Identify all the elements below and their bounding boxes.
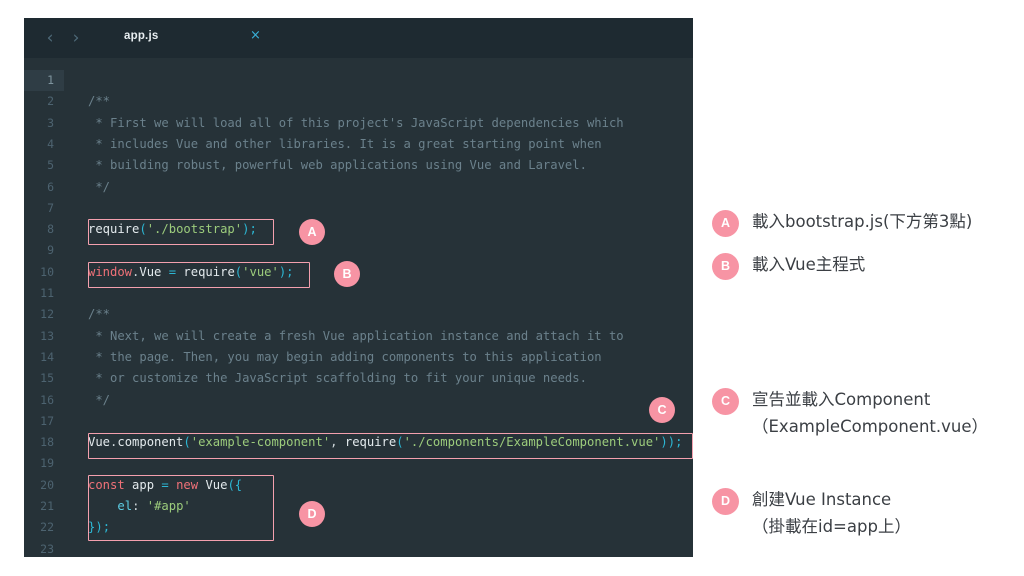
code-line[interactable]: Vue.component('example-component', requi…: [64, 432, 682, 453]
annotation-text-a: 載入bootstrap.js(下方第3點): [752, 208, 1024, 235]
chevron-left-icon[interactable]: ‹: [42, 29, 58, 47]
code-line[interactable]: * or customize the JavaScript scaffoldin…: [64, 368, 587, 389]
code-line[interactable]: [64, 283, 88, 304]
marker-badge-b: B: [334, 261, 360, 287]
code-line[interactable]: * the page. Then, you may begin adding c…: [64, 347, 602, 368]
code-line[interactable]: [64, 70, 88, 91]
code-line[interactable]: require('./bootstrap');: [64, 219, 257, 240]
code-line[interactable]: });: [64, 517, 110, 538]
code-line[interactable]: [64, 539, 88, 557]
annotation-panel: A 載入bootstrap.js(下方第3點) B 載入Vue主程式 C 宣告並…: [712, 0, 1024, 576]
annotation-d-line1: 創建Vue Instance: [752, 490, 891, 509]
annotation-c-line2: （ExampleComponent.vue）: [752, 413, 1024, 440]
line-number: 9: [24, 240, 64, 261]
line-number: 15: [24, 368, 64, 389]
line-number: 1: [24, 70, 64, 91]
annotation-text-d: 創建Vue Instance （掛載在id=app上）: [752, 486, 1024, 540]
code-line[interactable]: [64, 411, 88, 432]
line-number: 7: [24, 198, 64, 219]
marker-badge-a: A: [299, 219, 325, 245]
code-line[interactable]: window.Vue = require('vue');: [64, 262, 294, 283]
line-number: 13: [24, 326, 64, 347]
tab-label: app.js: [124, 30, 158, 42]
line-number-gutter: 1234567891011121314151617181920212223: [24, 58, 64, 557]
annotation-text-c: 宣告並載入Component （ExampleComponent.vue）: [752, 386, 1024, 440]
code-editor-window: ‹ › app.js × 123456789101112131415161718…: [24, 18, 693, 557]
annotation-a-line1: 載入bootstrap.js(下方第3點): [752, 212, 972, 231]
line-number: 5: [24, 155, 64, 176]
code-line[interactable]: * building robust, powerful web applicat…: [64, 155, 587, 176]
code-line[interactable]: [64, 198, 88, 219]
line-number: 21: [24, 496, 64, 517]
code-line[interactable]: const app = new Vue({: [64, 475, 242, 496]
editor-tab-bar: ‹ › app.js ×: [24, 18, 693, 58]
line-number: 8: [24, 219, 64, 240]
code-content[interactable]: /** * First we will load all of this pro…: [64, 58, 693, 557]
line-number: 17: [24, 411, 64, 432]
code-line[interactable]: * Next, we will create a fresh Vue appli…: [64, 326, 624, 347]
annotation-badge-b: B: [712, 253, 739, 280]
annotation-badge-c: C: [712, 388, 739, 415]
code-line[interactable]: /**: [64, 304, 110, 325]
code-line[interactable]: * includes Vue and other libraries. It i…: [64, 134, 602, 155]
code-surface[interactable]: 1234567891011121314151617181920212223 /*…: [24, 58, 693, 557]
line-number: 6: [24, 177, 64, 198]
line-number: 2: [24, 91, 64, 112]
line-number: 22: [24, 517, 64, 538]
code-line[interactable]: [64, 453, 88, 474]
close-icon[interactable]: ×: [250, 29, 261, 43]
annotation-text-b: 載入Vue主程式: [752, 251, 1024, 278]
line-number: 10: [24, 262, 64, 283]
line-number: 18: [24, 432, 64, 453]
code-line[interactable]: */: [64, 177, 110, 198]
line-number: 16: [24, 390, 64, 411]
marker-badge-d: D: [299, 501, 325, 527]
annotation-d-line2: （掛載在id=app上）: [752, 513, 1024, 540]
annotation-badge-a: A: [712, 210, 739, 237]
chevron-right-icon[interactable]: ›: [68, 29, 84, 47]
line-number: 14: [24, 347, 64, 368]
annotation-c-line1: 宣告並載入Component: [752, 390, 930, 409]
line-number: 3: [24, 113, 64, 134]
tab-app-js[interactable]: app.js ×: [100, 18, 278, 58]
marker-badge-c: C: [649, 397, 675, 423]
line-number: 12: [24, 304, 64, 325]
annotation-badge-d: D: [712, 488, 739, 515]
code-line[interactable]: el: '#app': [64, 496, 191, 517]
code-line[interactable]: [64, 240, 88, 261]
code-line[interactable]: /**: [64, 91, 110, 112]
annotation-b-line1: 載入Vue主程式: [752, 255, 865, 274]
code-line[interactable]: */: [64, 390, 110, 411]
line-number: 11: [24, 283, 64, 304]
line-number: 23: [24, 539, 64, 557]
line-number: 20: [24, 475, 64, 496]
line-number: 4: [24, 134, 64, 155]
line-number: 19: [24, 453, 64, 474]
code-line[interactable]: * First we will load all of this project…: [64, 113, 624, 134]
